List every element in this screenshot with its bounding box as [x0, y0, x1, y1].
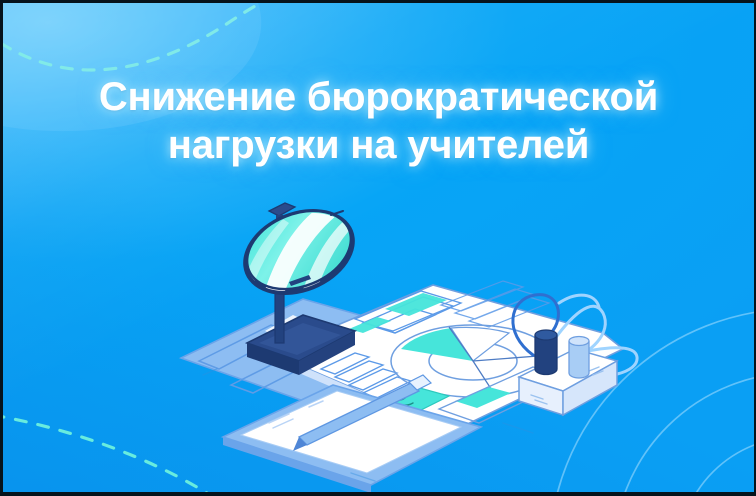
- cylinder-light: [569, 337, 589, 379]
- cylinder-dark: [535, 330, 557, 375]
- banner-slide: Снижение бюрократической нагрузки на учи…: [0, 0, 756, 496]
- magnifying-glass-on-stand: [230, 193, 368, 311]
- desk-illustration: [3, 3, 756, 496]
